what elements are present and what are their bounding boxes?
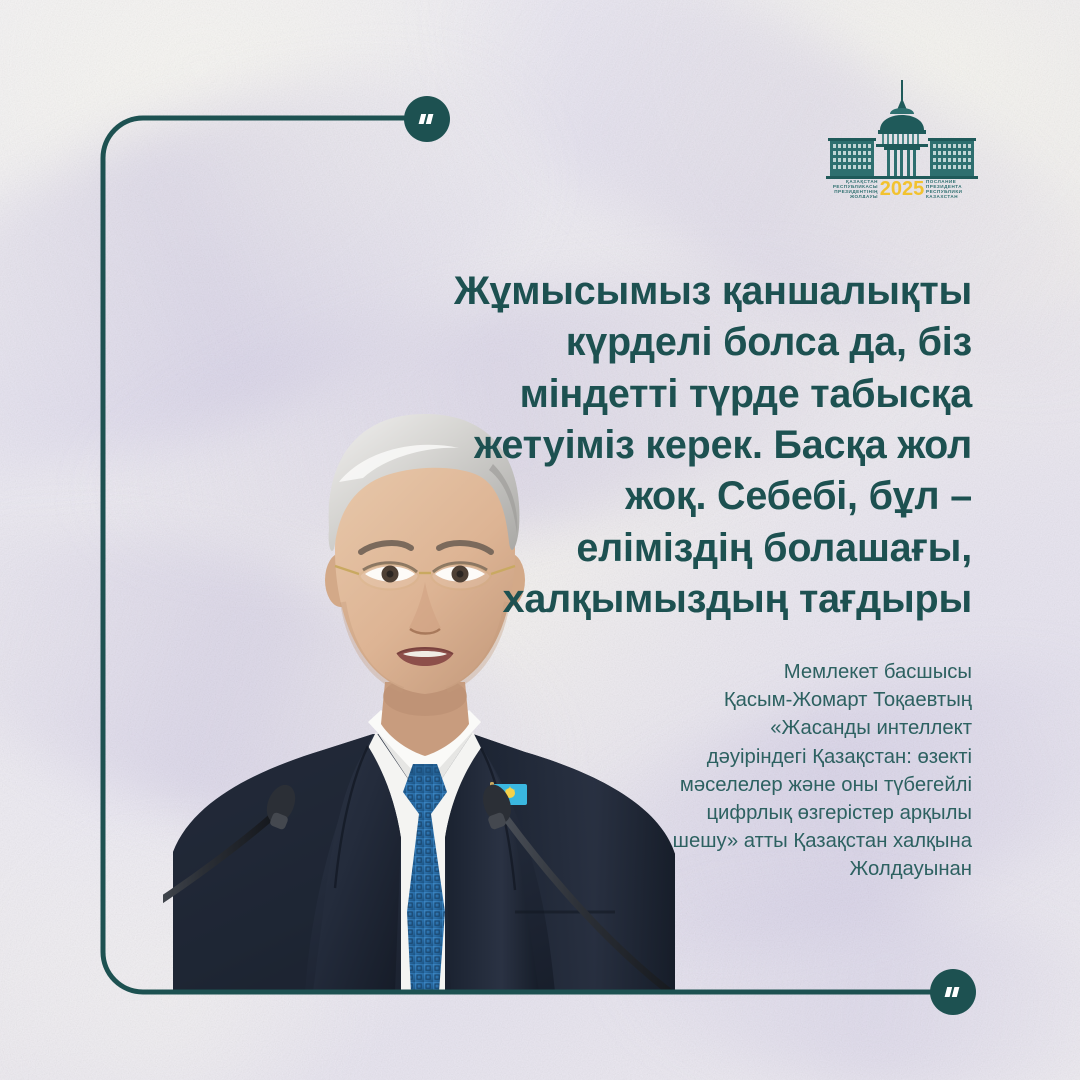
presidential-palace-akorda-icon [826, 80, 978, 179]
emblem-right-line-4: КАЗАХСТАН [926, 194, 958, 198]
quote-text: Жұмысымыз қаншалықты күрделі болса да, б… [452, 266, 972, 625]
address-2025-emblem: 2025 ҚАЗАҚСТАН РЕСПУБЛИКАСЫ ПРЕЗИДЕНТІНІ… [812, 78, 992, 198]
attribution-text: Мемлекет басшысы Қасым-Жомарт Тоқаевтың … [627, 658, 972, 884]
emblem-year: 2025 [880, 178, 925, 198]
emblem-left-line-4: ЖОЛДАУЫ [849, 194, 878, 198]
